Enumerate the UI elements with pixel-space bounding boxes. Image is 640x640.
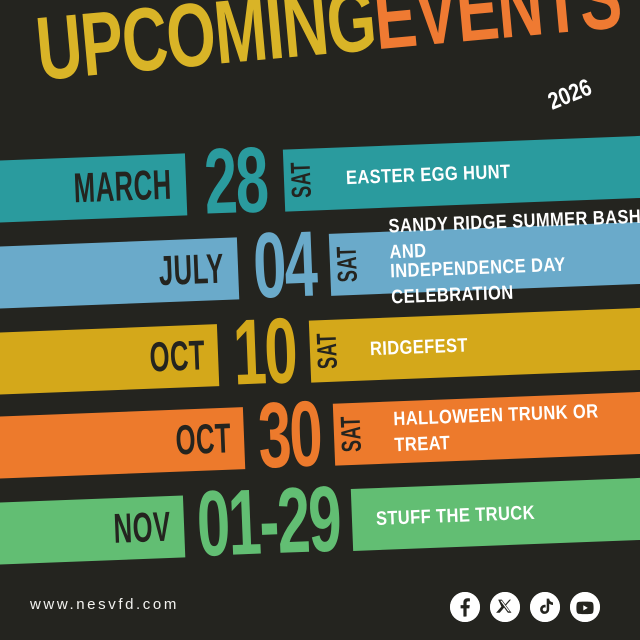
event-title: SANDY RIDGE SUMMER BASH ANDINDEPENDENCE … [389,221,640,293]
event-title-line1: RIDGEFEST [369,325,640,362]
event-title-line1: HALLOWEEN TRUNK OR TREAT [393,396,640,459]
social-links [450,592,600,622]
event-month-label: OCT [174,415,231,465]
event-month: NOV [0,495,185,565]
event-month-label: MARCH [73,161,173,213]
event-title-line1: EASTER EGG HUNT [345,153,640,191]
event-weekday-label: SAT [332,245,365,282]
youtube-icon[interactable] [570,592,600,622]
event-month-label: JULY [158,245,225,296]
event-day-label: 01-29 [195,474,341,572]
event-day-number: 01-29 [182,473,353,573]
year-label: 2026 [544,74,596,116]
x-icon[interactable] [490,592,520,622]
event-weekday: SAT [283,148,323,211]
event-weekday: SAT [329,232,369,295]
event-row[interactable]: OCT30SATHALLOWEEN TRUNK OR TREAT [0,391,640,480]
event-month: JULY [0,237,239,309]
website-link[interactable]: www.nesvfd.com [30,596,179,613]
title-events: EVENTS [370,0,624,65]
event-weekday: SAT [309,319,349,382]
page-title: UPCOMINGEVENTS [35,0,619,96]
event-month-label: OCT [148,332,205,382]
event-title: RIDGEFEST [369,307,640,380]
event-weekday: SAT [333,402,373,465]
poster-header: UPCOMINGEVENTS 2026 [0,0,640,128]
event-row[interactable]: OCT10SATRIDGEFEST [0,307,640,396]
event-title: EASTER EGG HUNT [345,135,640,209]
tiktok-icon[interactable] [530,592,560,622]
event-weekday-label: SAT [312,332,345,369]
event-month-label: NOV [113,503,172,553]
event-title-line1: STUFF THE TRUCK [375,495,640,532]
year-badge: 2026 [545,77,595,115]
event-month: MARCH [0,153,187,223]
event-title: STUFF THE TRUCK [375,477,640,550]
event-row[interactable]: JULY04SATSANDY RIDGE SUMMER BASH ANDINDE… [0,221,640,310]
event-weekday-label: SAT [286,161,319,198]
poster-footer: www.nesvfd.com [0,578,640,640]
event-title: HALLOWEEN TRUNK OR TREAT [393,391,640,463]
event-title-line2: INDEPENDENCE DAY CELEBRATION [390,248,640,311]
title-upcoming: UPCOMING [33,0,379,96]
event-row[interactable]: NOV01-29STUFF THE TRUCK [0,477,640,566]
event-weekday-label: SAT [336,415,369,452]
event-month: OCT [0,407,245,479]
poster-canvas: UPCOMINGEVENTS 2026 MARCH28SATEASTER EGG… [0,0,640,640]
facebook-icon[interactable] [450,592,480,622]
event-month: OCT [0,324,219,395]
